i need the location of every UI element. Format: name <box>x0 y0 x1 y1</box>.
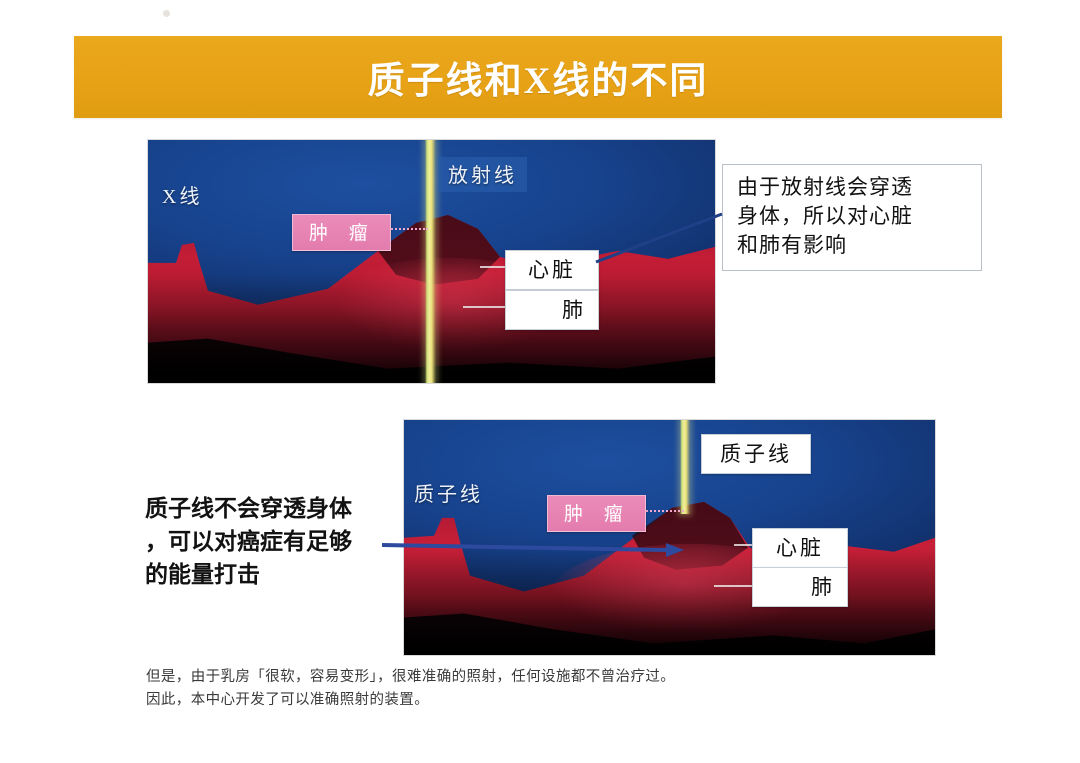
lung-leader-line <box>463 306 505 308</box>
top-callout-box: 由于放射线会穿透 身体，所以对心脏 和肺有影响 <box>722 164 982 271</box>
top-callout-line-3: 和肺有影响 <box>737 231 969 260</box>
caption-line-1: 但是，由于乳房「很软，容易变形」，很难准确的照射，任何设施都不曾治疗过。 <box>146 666 846 689</box>
heart-leader-line <box>480 266 506 268</box>
modality-label-proton: 质子线 <box>414 478 483 507</box>
beam-label-radiation: 放射线 <box>438 157 527 192</box>
footer-caption: 但是，由于乳房「很软，容易变形」，很难准确的照射，任何设施都不曾治疗过。 因此，… <box>146 666 846 712</box>
page-title: 质子线和X线的不同 <box>368 50 709 104</box>
bottom-note-text: 质子线不会穿透身体 ，可以对癌症有足够 的能量打击 <box>145 492 395 591</box>
top-callout-line-2: 身体，所以对心脏 <box>737 202 969 231</box>
beam-label-proton: 质子线 <box>701 434 811 474</box>
heart-label: 心脏 <box>752 528 848 568</box>
figure-vignette <box>404 420 935 655</box>
decorative-speck <box>163 10 170 17</box>
bottom-note-line-3: 的能量打击 <box>145 558 395 591</box>
lung-label: 肺 <box>505 290 599 330</box>
lung-label: 肺 <box>752 567 848 607</box>
tumor-label: 肿 瘤 <box>547 495 646 532</box>
title-banner: 质子线和X线的不同 <box>74 36 1002 118</box>
bottom-figure-proton: 质子线 质子线 肿 瘤 心脏 肺 <box>404 420 935 655</box>
top-callout-line-1: 由于放射线会穿透 <box>737 173 969 202</box>
radiation-beam <box>425 140 436 383</box>
tumor-label: 肿 瘤 <box>292 214 391 251</box>
modality-label-xray: X线 <box>162 180 202 209</box>
slide-page: 质子线和X线的不同 <box>0 0 1080 763</box>
proton-beam <box>680 420 690 514</box>
top-figure-xray: X线 放射线 肿 瘤 心脏 肺 <box>148 140 715 383</box>
bottom-note-line-1: 质子线不会穿透身体 <box>145 492 395 525</box>
caption-line-2: 因此，本中心开发了可以准确照射的装置。 <box>146 689 846 712</box>
bottom-note-line-2: ，可以对癌症有足够 <box>145 525 395 558</box>
heart-label: 心脏 <box>505 250 599 290</box>
